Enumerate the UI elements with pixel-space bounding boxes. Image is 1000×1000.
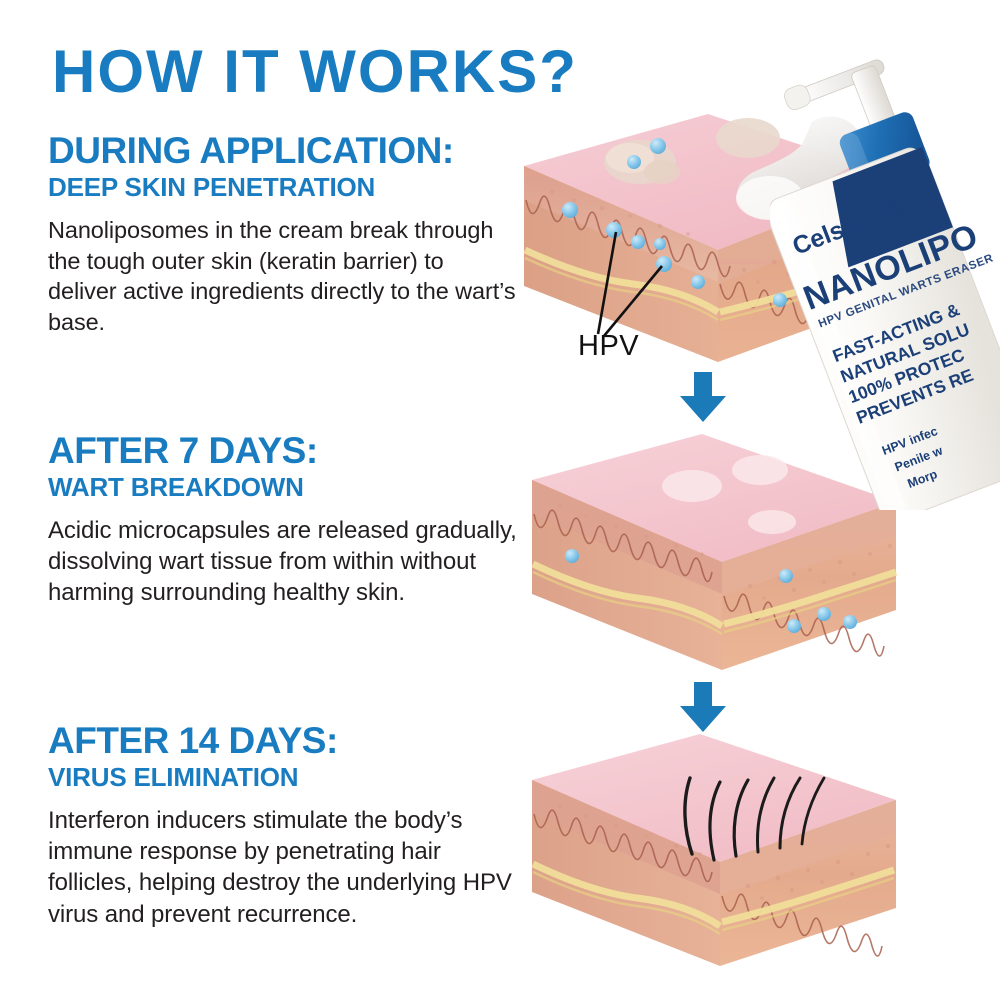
infographic-canvas: HOW IT WORKS? DURING APPLICATION: DEEP S… [0, 0, 1000, 1000]
step-block-during-application: DURING APPLICATION: DEEP SKIN PENETRATIO… [48, 132, 518, 337]
skin-diagram-stage-3 [524, 722, 904, 982]
hpv-label: HPV [578, 330, 639, 363]
step-block-after-7-days: AFTER 7 DAYS: WART BREAKDOWN Acidic micr… [48, 432, 518, 609]
step-subheading: VIRUS ELIMINATION [48, 764, 518, 791]
step-body-text: Nanoliposomes in the cream break through… [48, 215, 518, 337]
step-subheading: DEEP SKIN PENETRATION [48, 174, 518, 201]
step-subheading: WART BREAKDOWN [48, 474, 518, 501]
step-body-text: Acidic microcapsules are released gradua… [48, 515, 518, 609]
page-title: HOW IT WORKS? [52, 42, 578, 102]
step-heading: DURING APPLICATION: [48, 132, 518, 170]
product-bottle: Celsiora® NANOLIPO HPV GENITAL WARTS ERA… [770, 40, 1000, 510]
step-block-after-14-days: AFTER 14 DAYS: VIRUS ELIMINATION Interfe… [48, 722, 518, 930]
step-body-text: Interferon inducers stimulate the body’s… [48, 805, 518, 930]
stage-3-illustration [524, 722, 904, 982]
step-heading: AFTER 7 DAYS: [48, 432, 518, 470]
bottle-illustration: Celsiora® NANOLIPO HPV GENITAL WARTS ERA… [770, 40, 1000, 510]
step-heading: AFTER 14 DAYS: [48, 722, 518, 760]
